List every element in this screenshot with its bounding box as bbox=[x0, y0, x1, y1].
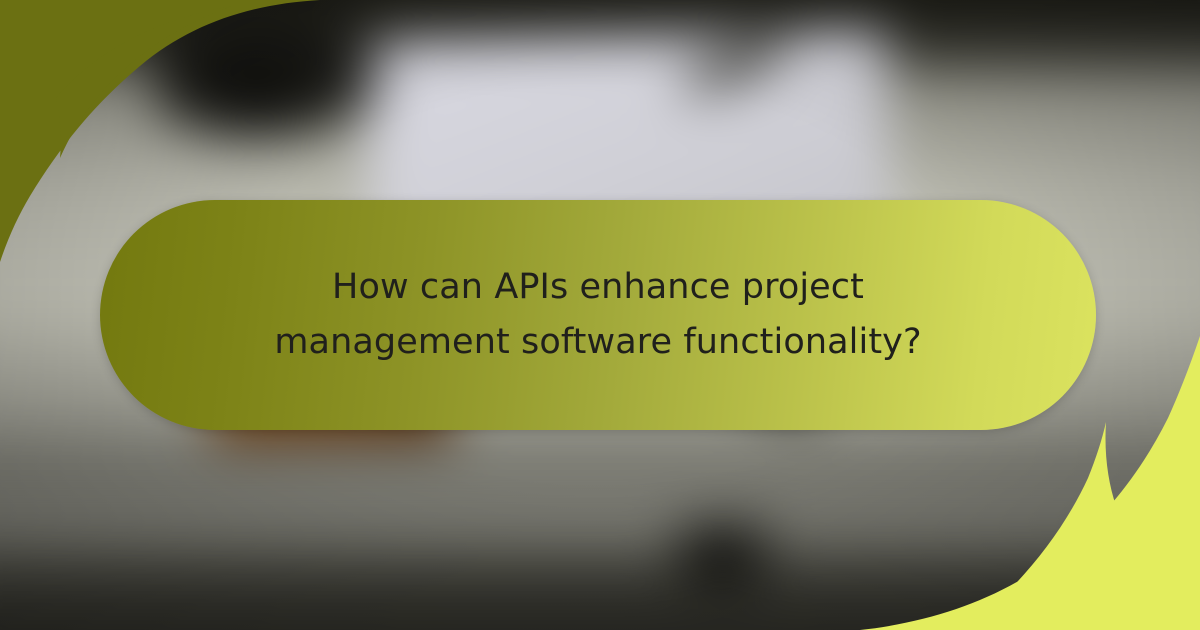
social-card-canvas: How can APIs enhance project management … bbox=[0, 0, 1200, 630]
headline-text: How can APIs enhance project management … bbox=[218, 260, 978, 371]
headline-card: How can APIs enhance project management … bbox=[100, 200, 1096, 430]
